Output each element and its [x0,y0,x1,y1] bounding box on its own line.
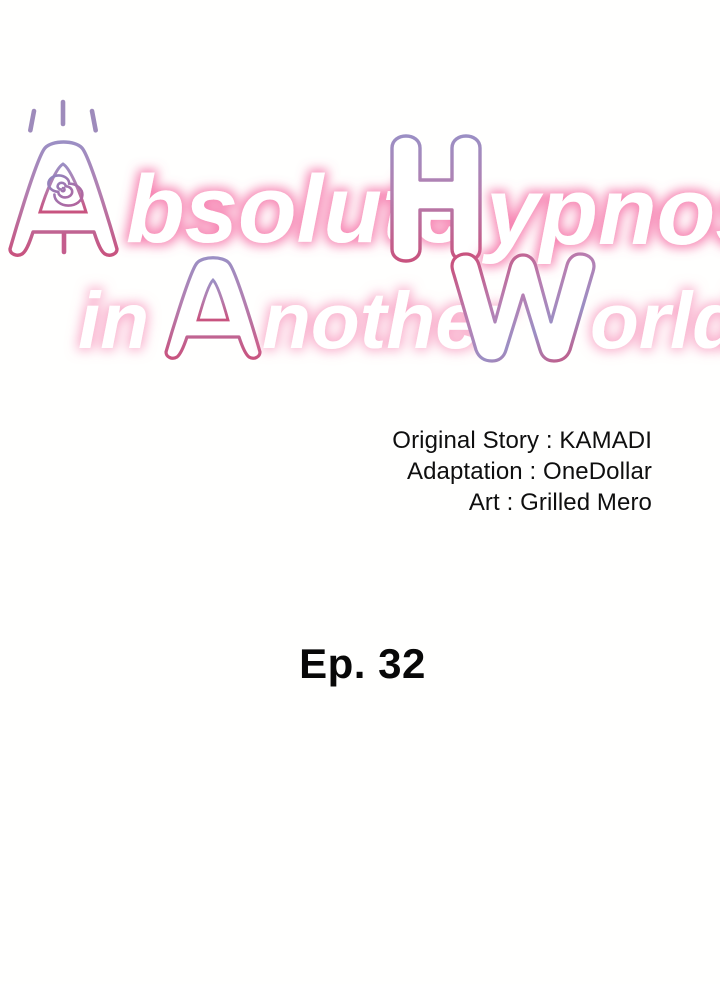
title-word-in: in [78,276,149,365]
title-logo-artwork: bsolute ypnosis in nother [0,86,720,371]
episode-label: Ep. 32 [299,640,426,687]
title-logo: bsolute ypnosis in nother [0,86,720,371]
credits-block: Original Story : KAMADI Adaptation : One… [0,425,652,518]
episode-block: Ep. 32 [0,640,720,688]
title-line-2: in nother orld [78,254,720,365]
credit-adaptation: Adaptation : OneDollar [0,456,652,487]
capital-w-outline [452,254,594,361]
capital-a-another [166,258,260,358]
credit-original-story: Original Story : KAMADI [0,425,652,456]
title-line-1: bsolute ypnosis [10,102,720,265]
title-word-ypnosis: ypnosis [482,158,720,265]
capital-w-world [452,254,594,361]
title-word-orld: orld [590,276,720,365]
credit-art: Art : Grilled Mero [0,487,652,518]
sparkle-dashes-top [29,102,97,130]
comic-title-page: bsolute ypnosis in nother [0,0,720,984]
